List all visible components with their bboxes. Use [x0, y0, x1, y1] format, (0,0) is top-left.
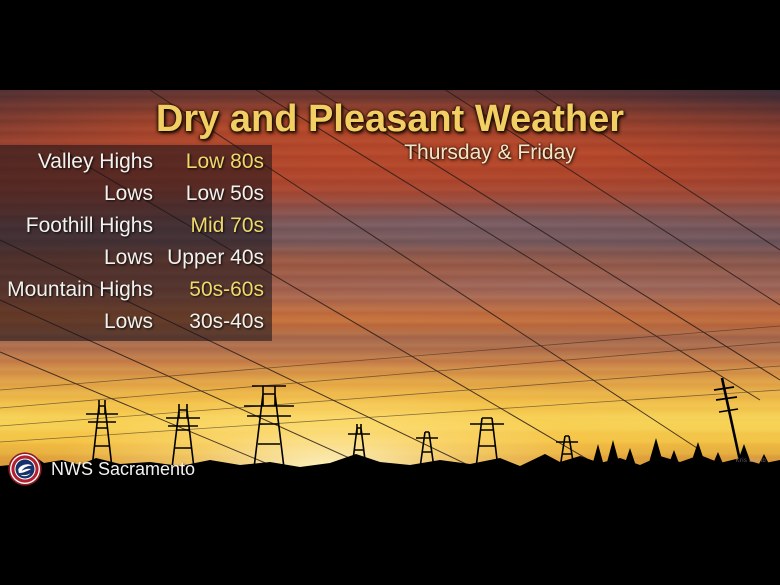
- letterbox-top-bar: [0, 0, 780, 90]
- agency-footer: NWS Sacramento: [8, 452, 195, 486]
- forecast-value: Low 50s: [165, 182, 272, 206]
- forecast-label: Foothill Highs: [0, 214, 165, 238]
- nws-seal-icon: [8, 452, 42, 486]
- forecast-table: Valley Highs Low 80s Lows Low 50s Foothi…: [0, 150, 272, 342]
- table-row: Lows Low 50s: [0, 182, 272, 214]
- forecast-value: Mid 70s: [165, 214, 272, 238]
- table-row: Lows 30s-40s: [0, 310, 272, 342]
- forecast-value: 50s-60s: [165, 278, 272, 302]
- letterbox-bottom-bar: [0, 490, 780, 585]
- photo-credit: Kris Bumb: [736, 458, 766, 464]
- agency-name: NWS Sacramento: [51, 459, 195, 480]
- table-row: Lows Upper 40s: [0, 246, 272, 278]
- table-row: Mountain Highs 50s-60s: [0, 278, 272, 310]
- table-row: Foothill Highs Mid 70s: [0, 214, 272, 246]
- forecast-period-subtitle: Thursday & Friday: [390, 141, 590, 165]
- forecast-value: Upper 40s: [165, 246, 272, 270]
- forecast-label: Valley Highs: [0, 150, 165, 174]
- page-title: Dry and Pleasant Weather: [0, 98, 780, 141]
- table-row: Valley Highs Low 80s: [0, 150, 272, 182]
- forecast-label: Lows: [0, 246, 165, 270]
- forecast-label: Lows: [0, 182, 165, 206]
- forecast-value: Low 80s: [165, 150, 272, 174]
- forecast-label: Lows: [0, 310, 165, 334]
- weather-graphic: Dry and Pleasant Weather Thursday & Frid…: [0, 0, 780, 585]
- forecast-value: 30s-40s: [165, 310, 272, 334]
- forecast-label: Mountain Highs: [0, 278, 165, 302]
